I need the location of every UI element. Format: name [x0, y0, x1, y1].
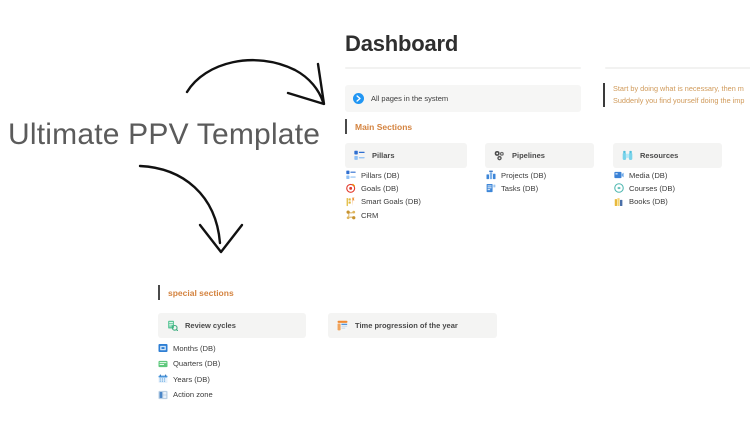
link-list-resources: Media (DB) Courses (DB) Books (DB) — [614, 170, 675, 207]
divider-left — [345, 67, 581, 69]
list-item-label: Action zone — [173, 390, 213, 399]
blue-grid-list-icon — [354, 150, 365, 161]
list-item[interactable]: Pillars (DB) — [346, 170, 421, 180]
all-pages-link[interactable]: All pages in the system — [345, 85, 581, 112]
green-review-icon — [167, 320, 178, 331]
list-item[interactable]: Courses (DB) — [614, 183, 675, 193]
link-list-pipelines: Projects (DB) Tasks (DB) — [486, 170, 546, 193]
list-item-label: Months (DB) — [173, 344, 216, 353]
cyan-binoculars-icon — [622, 150, 633, 161]
card-header-time-progression[interactable]: Time progression of the year — [328, 313, 497, 338]
list-item-label: Media (DB) — [629, 171, 667, 180]
card-label-resources: Resources — [640, 151, 678, 160]
list-item[interactable]: Books (DB) — [614, 197, 675, 207]
list-item-label: Pillars (DB) — [361, 171, 399, 180]
card-header-review-cycles[interactable]: Review cycles — [158, 313, 306, 338]
section-heading-main-label: Main Sections — [355, 122, 412, 132]
all-pages-label: All pages in the system — [371, 94, 448, 103]
link-list-pillars: Pillars (DB) Goals (DB) Sma — [346, 170, 421, 220]
blue-video-icon — [614, 170, 624, 180]
list-item-label: Books (DB) — [629, 197, 668, 206]
divider-right — [605, 67, 750, 69]
blue-gray-action-icon — [158, 390, 168, 400]
curved-arrow-down-annotation — [138, 163, 258, 258]
gold-network-icon — [346, 210, 356, 220]
page-root: Ultimate PPV Template Dashboard All page… — [0, 0, 750, 422]
card-label-review-cycles: Review cycles — [185, 321, 236, 330]
page-title: Ultimate PPV Template — [8, 118, 320, 152]
list-item-label: Goals (DB) — [361, 184, 399, 193]
section-heading-special: special sections — [158, 285, 234, 300]
blue-circle-arrow-right-icon — [353, 93, 364, 104]
section-heading-main: Main Sections — [345, 119, 412, 134]
quote-line-2: Suddenly you find yourself doing the imp — [613, 95, 750, 107]
card-header-resources[interactable]: Resources — [613, 143, 722, 168]
orange-blue-layout-icon — [337, 320, 348, 331]
yellow-books-icon — [614, 197, 624, 207]
section-heading-special-label: special sections — [168, 288, 234, 298]
dark-gear-cluster-icon — [494, 150, 505, 161]
dashboard-heading: Dashboard — [345, 31, 458, 57]
list-item[interactable]: Months (DB) — [158, 343, 220, 353]
list-item-label: Courses (DB) — [629, 184, 675, 193]
list-item-label: Tasks (DB) — [501, 184, 538, 193]
list-item-label: Quarters (DB) — [173, 359, 220, 368]
card-label-pipelines: Pipelines — [512, 151, 545, 160]
blue-kanban-icon — [486, 170, 496, 180]
list-item[interactable]: Smart Goals (DB) — [346, 197, 421, 207]
blue-calendar-month-icon — [158, 343, 168, 353]
list-item[interactable]: CRM — [346, 210, 421, 220]
list-item[interactable]: Goals (DB) — [346, 183, 421, 193]
list-item-label: CRM — [361, 211, 378, 220]
green-quarters-icon — [158, 359, 168, 369]
list-item-label: Smart Goals (DB) — [361, 197, 421, 206]
card-label-time-progression: Time progression of the year — [355, 321, 458, 330]
list-item-label: Projects (DB) — [501, 171, 546, 180]
list-item[interactable]: Tasks (DB) — [486, 183, 546, 193]
list-item[interactable]: Media (DB) — [614, 170, 675, 180]
link-list-review-cycles: Months (DB) Quarters (DB) — [158, 343, 220, 400]
list-item-label: Years (DB) — [173, 375, 210, 384]
blue-checklist-icon — [486, 183, 496, 193]
yellow-flag-chart-icon — [346, 197, 356, 207]
card-label-pillars: Pillars — [372, 151, 395, 160]
blue-calendar-year-icon — [158, 374, 168, 384]
curved-arrow-right-down-annotation — [185, 52, 335, 110]
card-header-pillars[interactable]: Pillars — [345, 143, 467, 168]
teal-course-icon — [614, 183, 624, 193]
list-item[interactable]: Projects (DB) — [486, 170, 546, 180]
red-target-icon — [346, 183, 356, 193]
blue-grid-list-icon — [346, 170, 356, 180]
list-item[interactable]: Quarters (DB) — [158, 359, 220, 369]
list-item[interactable]: Years (DB) — [158, 374, 220, 384]
quote-block: Start by doing what is necessary, then m… — [603, 83, 750, 107]
card-header-pipelines[interactable]: Pipelines — [485, 143, 594, 168]
list-item[interactable]: Action zone — [158, 390, 220, 400]
quote-line-1: Start by doing what is necessary, then m — [613, 83, 750, 95]
